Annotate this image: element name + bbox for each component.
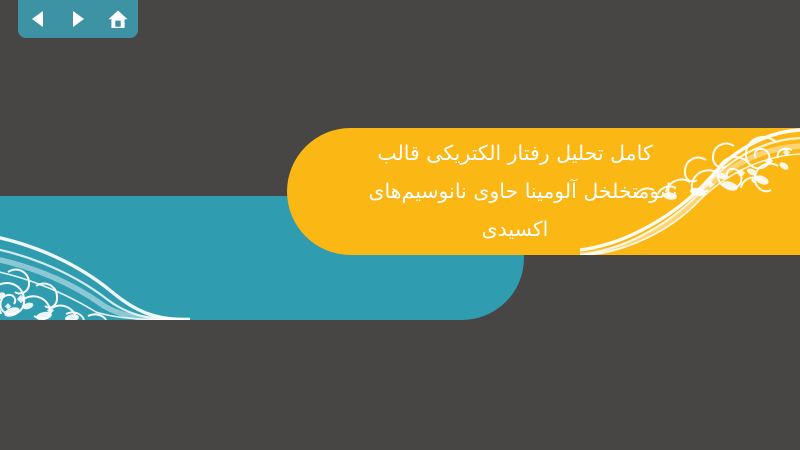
arabesque-ornament [0,196,190,320]
title-line-2: نانومتخلخل آلومینا حاوی نانوسیم‌های [300,172,746,210]
triangle-left-icon [29,9,47,29]
slide-canvas: کامل تحلیل رفتار الکتریکی قالب نانومتخلخ… [0,0,800,450]
triangle-right-icon [69,9,87,29]
home-icon [107,9,129,30]
forward-button[interactable] [63,6,93,32]
title-line-3: اکسیدی [300,210,730,248]
slide-title: کامل تحلیل رفتار الکتریکی قالب نانومتخلخ… [300,134,730,248]
home-button[interactable] [103,6,133,32]
title-line-1: کامل تحلیل رفتار الکتریکی قالب [300,134,730,172]
navigation-toolbar [18,0,138,38]
back-button[interactable] [23,6,53,32]
